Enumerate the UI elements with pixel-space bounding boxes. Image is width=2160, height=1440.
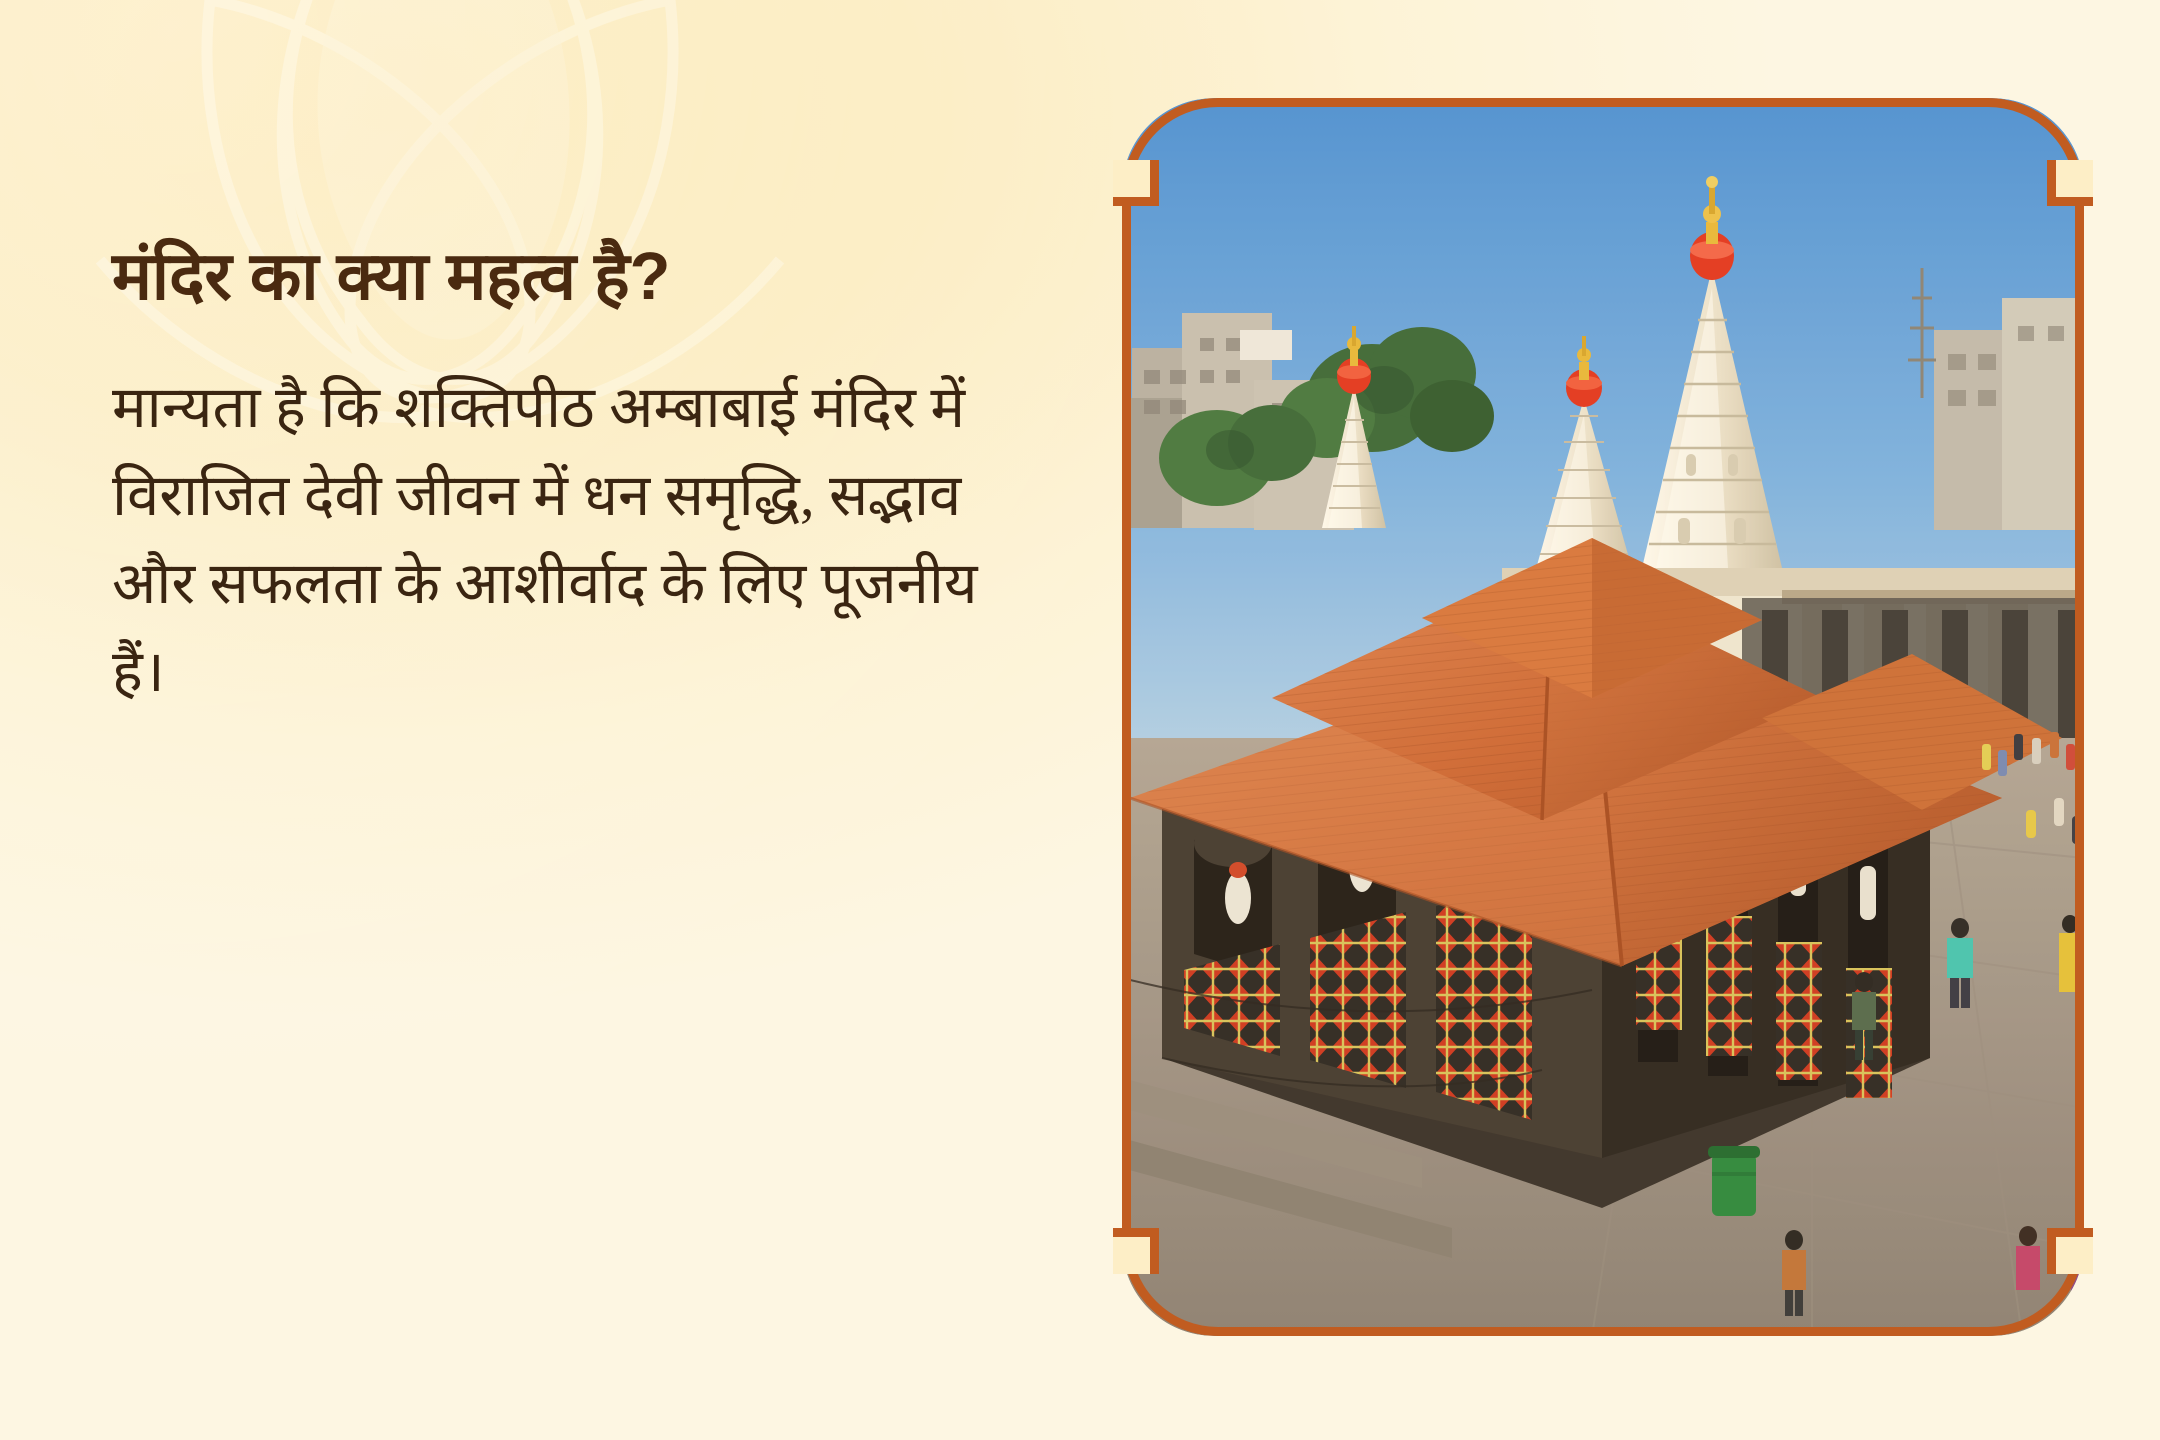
body-paragraph: मान्यता है कि शक्तिपीठ अम्बाबाई मंदिर मे…	[112, 364, 982, 717]
frame-corner-notch-bottom-right	[2047, 1228, 2093, 1274]
temple-scene-illustration	[1122, 98, 2084, 1336]
frame-corner-notch-top-right	[2047, 160, 2093, 206]
frame-corner-notch-bottom-left	[1113, 1228, 1159, 1274]
page-title: मंदिर का क्या महत्व है?	[112, 236, 992, 318]
frame-corner-notch-top-left	[1113, 160, 1159, 206]
temple-photo-frame: अम्बाबाई मंदिर परिसर का दृश्य	[1122, 98, 2084, 1336]
infographic-card: मंदिर का क्या महत्व है? मान्यता है कि शक…	[0, 0, 2160, 1440]
text-column: मंदिर का क्या महत्व है? मान्यता है कि शक…	[112, 236, 992, 716]
temple-photo	[1122, 98, 2084, 1336]
